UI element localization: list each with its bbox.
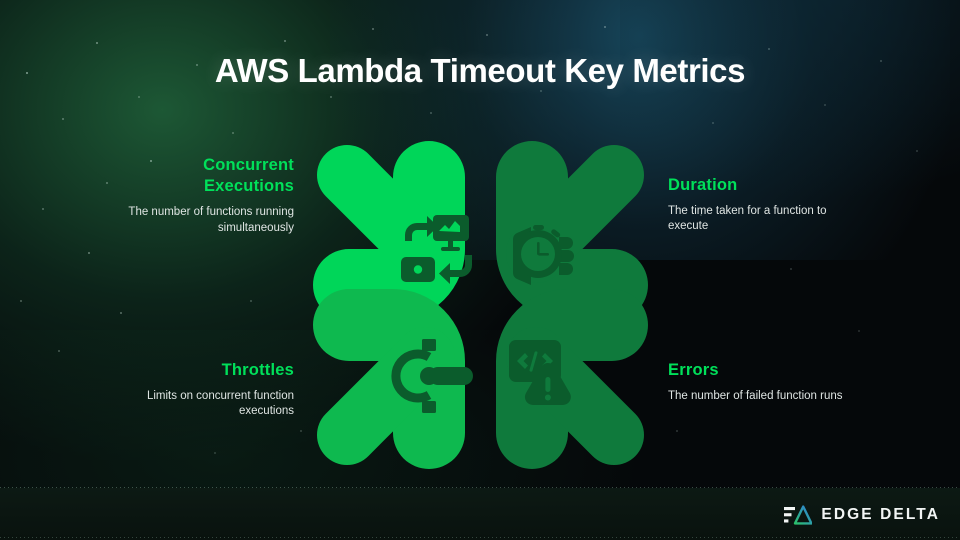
metric-label-errors: Errors The number of failed function run… <box>668 360 850 404</box>
edge-delta-logo-mark <box>784 504 812 526</box>
brand-logo-text: EDGE DELTA <box>821 506 940 524</box>
metric-description: The number of functions running simultan… <box>120 205 294 236</box>
metric-name-line-2: Executions <box>120 176 294 197</box>
brand-logo: EDGE DELTA <box>784 504 940 526</box>
metric-description: The time taken for a function to execute <box>668 204 848 235</box>
metric-name: Concurrent Executions <box>120 155 294 197</box>
footer-divider-bottom <box>0 537 960 538</box>
slide-canvas: AWS Lambda Timeout Key Metrics <box>0 0 960 540</box>
metric-name: Errors <box>668 360 850 381</box>
page-title: AWS Lambda Timeout Key Metrics <box>0 52 960 90</box>
metric-name: Duration <box>668 175 848 196</box>
metric-name: Throttles <box>120 360 294 381</box>
metric-name-line-1: Concurrent <box>120 155 294 176</box>
footer-divider-top <box>0 487 960 488</box>
metric-description: Limits on concurrent function executions <box>120 389 294 420</box>
metric-label-concurrent-executions: Concurrent Executions The number of func… <box>120 155 294 236</box>
metric-label-throttles: Throttles Limits on concurrent function … <box>120 360 294 420</box>
arrow-bottom-left <box>347 325 429 435</box>
four-arrow-diagram <box>313 141 648 469</box>
metric-label-duration: Duration The time taken for a function t… <box>668 175 848 235</box>
metric-description: The number of failed function runs <box>668 389 850 404</box>
background-glow-top-right <box>620 0 960 200</box>
